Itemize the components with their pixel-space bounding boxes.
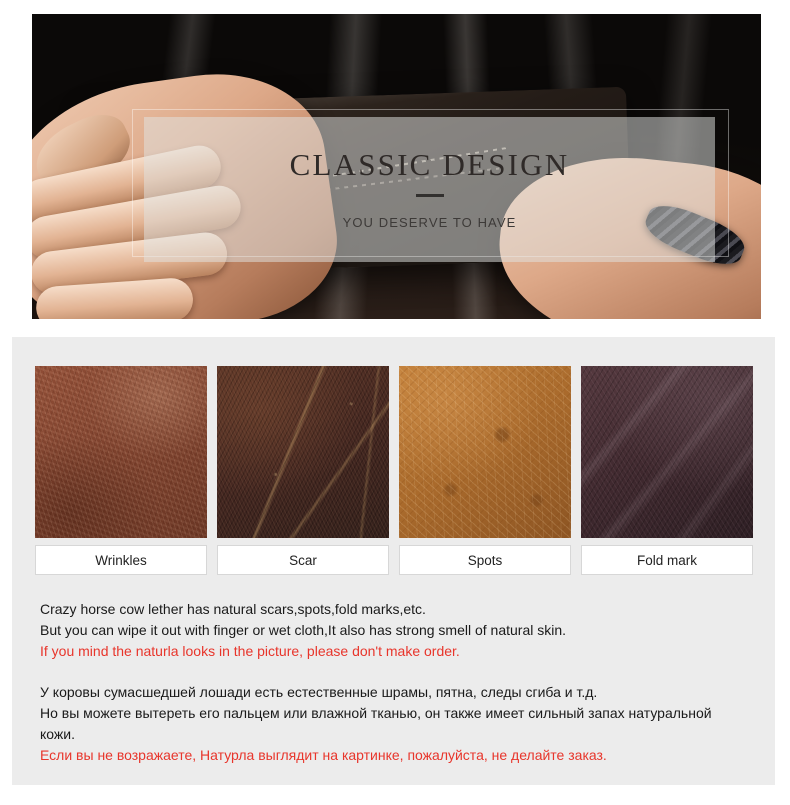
russian-warning: Если вы не возражаете, Натурла выглядит … bbox=[40, 745, 750, 766]
paragraph-spacer bbox=[40, 662, 750, 682]
product-detail-page: CLASSIC DESIGN YOU DESERVE TO HAVE Wrink… bbox=[0, 0, 790, 805]
hero-divider bbox=[416, 194, 444, 197]
hero-subtitle: YOU DESERVE TO HAVE bbox=[343, 215, 517, 230]
description-text-block: Crazy horse cow lether has natural scars… bbox=[40, 599, 750, 766]
swatch-image-fold-mark bbox=[581, 366, 753, 538]
swatch-image-scar bbox=[217, 366, 389, 538]
hero-text-block: CLASSIC DESIGN YOU DESERVE TO HAVE bbox=[144, 117, 715, 262]
russian-line-2: Но вы можете вытереть его пальцем или вл… bbox=[40, 703, 750, 745]
swatch-item-wrinkles: Wrinkles bbox=[35, 366, 207, 575]
leather-swatch-row: Wrinkles Scar Spots Fold mark bbox=[35, 366, 753, 575]
english-warning: If you mind the naturla looks in the pic… bbox=[40, 641, 750, 662]
hero-banner: CLASSIC DESIGN YOU DESERVE TO HAVE bbox=[32, 14, 761, 319]
english-line-1: Crazy horse cow lether has natural scars… bbox=[40, 599, 750, 620]
swatch-label-scar: Scar bbox=[217, 545, 389, 575]
swatch-item-scar: Scar bbox=[217, 366, 389, 575]
swatch-item-fold-mark: Fold mark bbox=[581, 366, 753, 575]
swatch-image-wrinkles bbox=[35, 366, 207, 538]
leather-info-panel: Wrinkles Scar Spots Fold mark Crazy hors… bbox=[12, 337, 775, 785]
swatch-item-spots: Spots bbox=[399, 366, 571, 575]
russian-line-1: У коровы сумасшедшей лошади есть естеств… bbox=[40, 682, 750, 703]
swatch-label-fold-mark: Fold mark bbox=[581, 545, 753, 575]
swatch-label-wrinkles: Wrinkles bbox=[35, 545, 207, 575]
english-line-2: But you can wipe it out with finger or w… bbox=[40, 620, 750, 641]
hero-title: CLASSIC DESIGN bbox=[290, 149, 570, 180]
swatch-image-spots bbox=[399, 366, 571, 538]
swatch-label-spots: Spots bbox=[399, 545, 571, 575]
